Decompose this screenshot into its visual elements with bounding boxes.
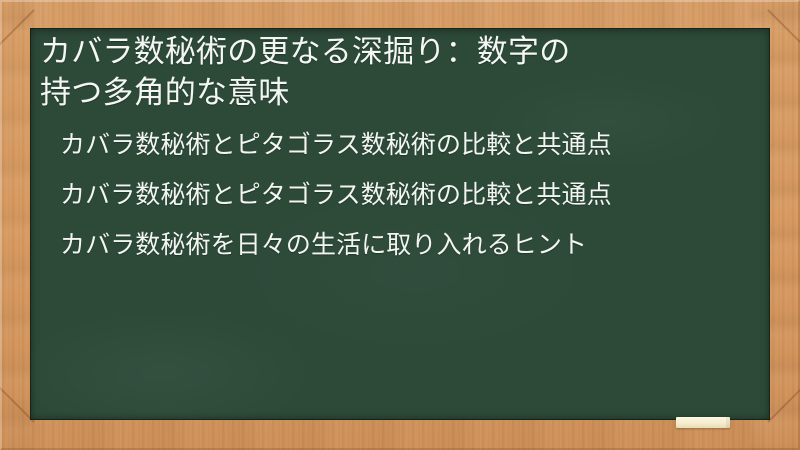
frame-grain-left (0, 0, 32, 450)
chalk-stick-tip (726, 417, 730, 428)
board-title: カバラ数秘術の更なる深掘り：数字の 持つ多角的な意味 (38, 32, 744, 114)
frame-grain-top (0, 0, 800, 30)
board-content: カバラ数秘術の更なる深掘り：数字の 持つ多角的な意味 カバラ数秘術とピタゴラス数… (30, 28, 770, 420)
topic-list: カバラ数秘術とピタゴラス数秘術の比較と共通点 カバラ数秘術とピタゴラス数秘術の比… (38, 132, 744, 257)
list-item: カバラ数秘術とピタゴラス数秘術の比較と共通点 (60, 182, 744, 207)
chalkboard-surface: カバラ数秘術の更なる深掘り：数字の 持つ多角的な意味 カバラ数秘術とピタゴラス数… (30, 28, 770, 420)
list-item: カバラ数秘術を日々の生活に取り入れるヒント (60, 232, 744, 257)
chalk-stick (676, 417, 730, 428)
list-item: カバラ数秘術とピタゴラス数秘術の比較と共通点 (60, 132, 744, 157)
chalkboard-slide: カバラ数秘術の更なる深掘り：数字の 持つ多角的な意味 カバラ数秘術とピタゴラス数… (0, 0, 800, 450)
